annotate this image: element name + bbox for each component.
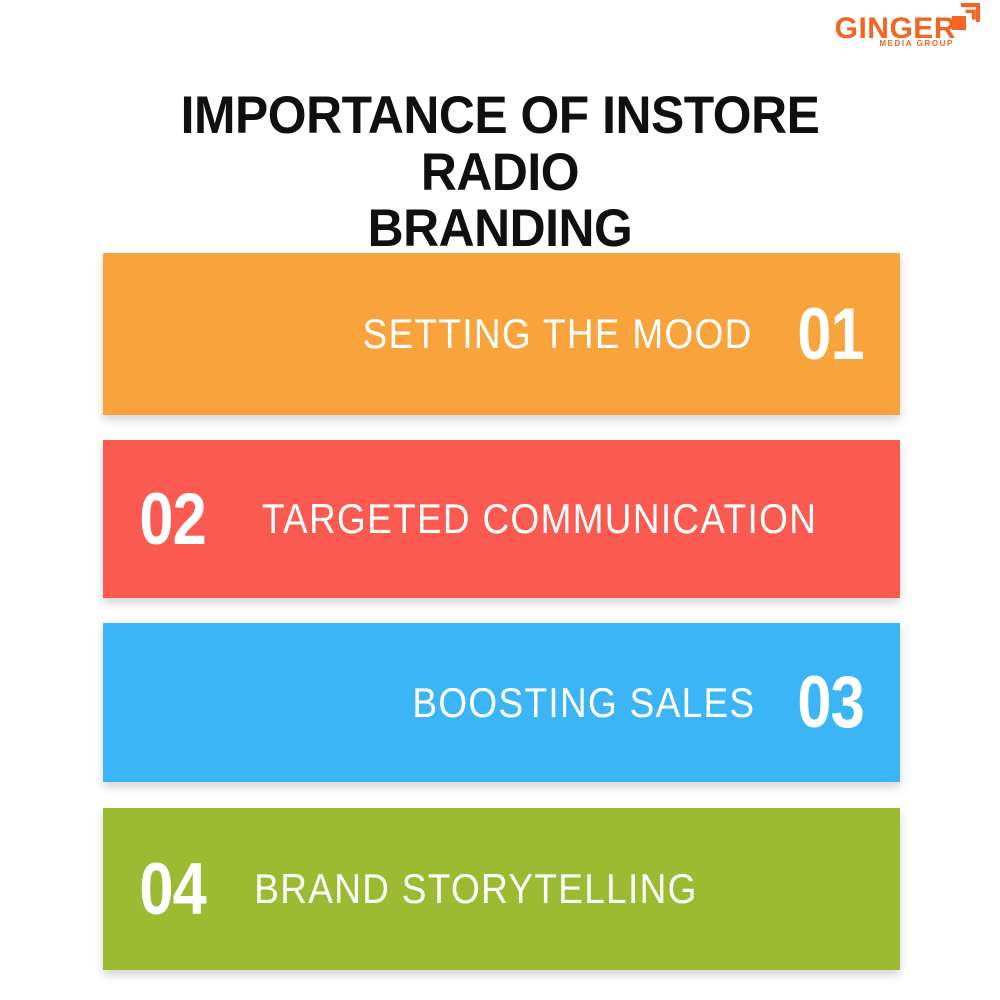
bar-number: 04 [139, 853, 206, 926]
ginger-media-group-logo: GINGER MEDIA GROUP [853, 2, 988, 52]
bar-label: BRAND STORYTELLING [254, 865, 697, 913]
nested-squares-logo-icon [952, 3, 980, 30]
numbered-bar-list: SETTING THE MOOD 01 02 TARGETED COMMUNIC… [103, 253, 900, 970]
page-title-line-2: BRANDING [124, 201, 876, 258]
bar-label: TARGETED COMMUNICATION [262, 495, 817, 543]
page-header: GINGER MEDIA GROUP [0, 0, 1000, 62]
logo-tagline: MEDIA GROUP [879, 40, 954, 48]
page-title-line-1: IMPORTANCE OF INSTORE RADIO [124, 88, 876, 201]
bar-number: 01 [797, 298, 864, 371]
bar-number: 02 [139, 483, 206, 556]
list-item[interactable]: 04 BRAND STORYTELLING [103, 808, 900, 970]
list-item[interactable]: SETTING THE MOOD 01 [103, 253, 900, 415]
bar-label: SETTING THE MOOD [362, 310, 752, 358]
list-item[interactable]: BOOSTING SALES 03 [103, 623, 900, 782]
page-title: IMPORTANCE OF INSTORE RADIO BRANDING [124, 88, 876, 258]
list-item[interactable]: 02 TARGETED COMMUNICATION [103, 440, 900, 598]
bar-label: BOOSTING SALES [412, 679, 755, 727]
bar-number: 03 [797, 666, 864, 739]
